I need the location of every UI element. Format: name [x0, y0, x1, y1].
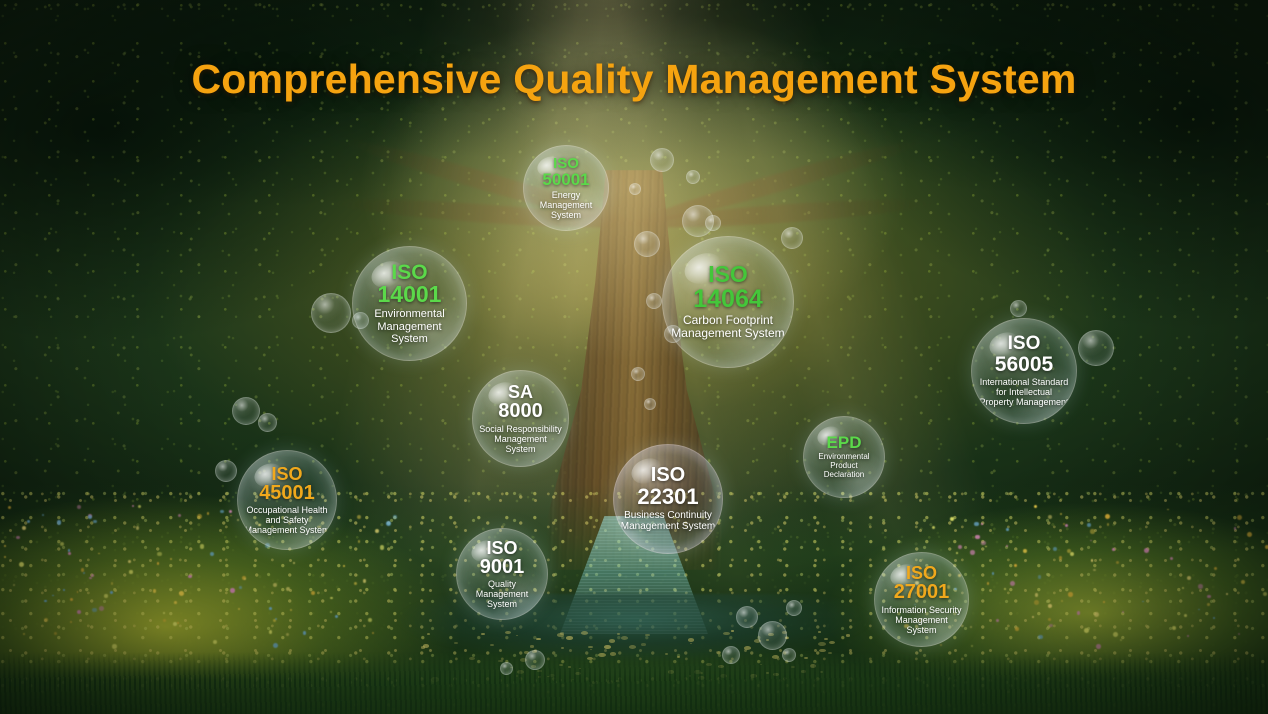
foreground-grass	[0, 652, 1268, 714]
bubble-code-iso-27001: ISO	[906, 564, 937, 582]
decor-bubble-13	[232, 397, 260, 425]
decor-bubble-10	[644, 398, 656, 410]
decor-bubble-18	[736, 606, 758, 628]
bubble-description-iso-56005: International Standard for Intellectual …	[972, 377, 1076, 407]
bubble-description-iso-22301: Business Continuity Management System	[614, 510, 722, 532]
bubble-code-iso-22301: ISO	[651, 465, 685, 485]
bubble-number-iso-56005: 56005	[995, 354, 1053, 375]
decor-bubble-16	[1078, 330, 1114, 366]
tree-branch-left-lower	[633, 194, 934, 233]
bubble-number-iso-27001: 27001	[894, 582, 950, 602]
bubble-description-iso-45001: Occupational Health and Safety Managemen…	[238, 505, 336, 535]
standard-bubble-iso-22301[interactable]: ISO22301Business Continuity Management S…	[613, 444, 723, 554]
bubble-code-iso-14001: ISO	[391, 262, 427, 283]
bubble-number-sa-8000: 8000	[498, 401, 543, 421]
bubble-number-iso-45001: 45001	[259, 483, 315, 503]
bubble-code-iso-45001: ISO	[271, 465, 302, 483]
bubble-code-epd: EPD	[827, 434, 862, 451]
decor-bubble-15	[215, 460, 237, 482]
standard-bubble-iso-14064[interactable]: ISO14064Carbon Footprint Management Syst…	[662, 236, 794, 368]
bubble-description-iso-9001: Quality Management System	[457, 579, 547, 609]
decor-bubble-8	[631, 367, 645, 381]
decor-bubble-11	[311, 293, 351, 333]
decor-bubble-7	[646, 293, 662, 309]
bubble-number-iso-14001: 14001	[378, 283, 442, 306]
standard-bubble-iso-45001[interactable]: ISO45001Occupational Health and Safety M…	[237, 450, 337, 550]
bubble-code-sa-8000: SA	[508, 383, 533, 401]
standard-bubble-iso-56005[interactable]: ISO56005International Standard for Intel…	[971, 318, 1077, 424]
bubble-code-iso-14064: ISO	[708, 263, 748, 286]
bubble-code-iso-50001: ISO	[553, 156, 579, 171]
decor-bubble-6	[781, 227, 803, 249]
decor-bubble-23	[525, 650, 545, 670]
standard-bubble-epd[interactable]: EPDEnvironmental Product Declaration	[803, 416, 885, 498]
bubble-code-iso-9001: ISO	[486, 539, 517, 557]
bubble-description-iso-50001: Energy Management System	[524, 190, 608, 220]
bubble-description-iso-27001: Information Security Management System	[875, 605, 968, 635]
bubble-number-iso-22301: 22301	[637, 486, 698, 508]
bubble-description-sa-8000: Social Responsibility Management System	[473, 424, 568, 454]
bubble-description-epd: Environmental Product Declaration	[804, 453, 884, 480]
standard-bubble-iso-9001[interactable]: ISO9001Quality Management System	[456, 528, 548, 620]
decor-bubble-0	[650, 148, 674, 172]
bubble-number-iso-9001: 9001	[480, 557, 525, 577]
standard-bubble-iso-14001[interactable]: ISO14001Environmental Management System	[352, 246, 467, 361]
decor-bubble-5	[634, 231, 660, 257]
standard-bubble-iso-50001[interactable]: ISO50001Energy Management System	[523, 145, 609, 231]
decor-bubble-22	[782, 648, 796, 662]
decor-bubble-17	[1010, 300, 1027, 317]
bubble-number-iso-14064: 14064	[693, 287, 763, 313]
page-title: Comprehensive Quality Management System	[0, 56, 1268, 103]
standard-bubble-sa-8000[interactable]: SA8000Social Responsibility Management S…	[472, 370, 569, 467]
decor-bubble-2	[629, 183, 641, 195]
decor-bubble-21	[722, 646, 740, 664]
slide-canvas: Comprehensive Quality Management System …	[0, 0, 1268, 714]
decor-bubble-20	[786, 600, 802, 616]
bubble-number-iso-50001: 50001	[542, 171, 589, 188]
decor-bubble-1	[686, 170, 700, 184]
decor-bubble-19	[758, 621, 787, 650]
decor-bubble-14	[258, 413, 277, 432]
decor-bubble-4	[705, 215, 721, 231]
bubble-description-iso-14001: Environmental Management System	[353, 308, 466, 345]
bubble-code-iso-56005: ISO	[1008, 334, 1041, 353]
bubble-description-iso-14064: Carbon Footprint Management System	[663, 314, 793, 341]
decor-bubble-24	[500, 662, 513, 675]
standard-bubble-iso-27001[interactable]: ISO27001Information Security Management …	[874, 552, 969, 647]
